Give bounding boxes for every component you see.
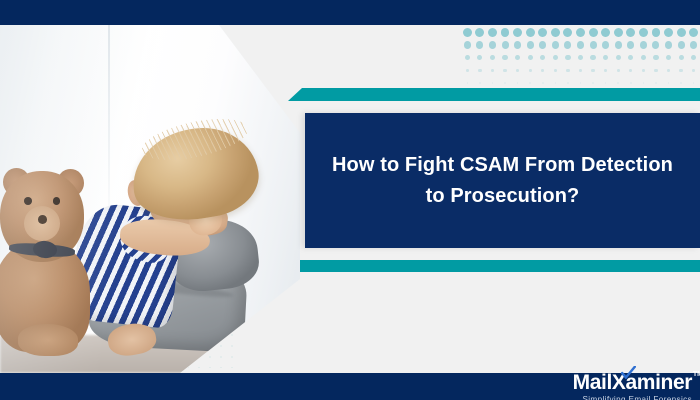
dot [539,41,546,48]
dot [578,55,583,60]
dot [479,82,480,84]
dot [209,367,211,369]
dot [553,55,558,60]
dot [692,69,695,72]
dot [653,55,658,60]
headline-card: How to Fight CSAM From Detection to Pros… [305,113,700,248]
logo-tagline: Simplifying Email Forensics [573,396,692,400]
dot [565,55,570,60]
dot [516,69,519,72]
mailxaminer-logo[interactable]: MailXaminerTM Simplifying Email Forensic… [573,372,692,400]
dot [513,28,522,37]
dot [504,82,505,84]
dot-row [461,51,700,64]
dot [502,55,507,60]
teddy-bear-leg [18,324,78,355]
dot [515,55,520,60]
dot-row [461,64,700,77]
dot [527,41,534,48]
dot [605,82,606,84]
dot [668,82,669,84]
dot [514,41,521,48]
dot [667,69,670,72]
dot [198,367,200,369]
dot [639,28,648,37]
top-navy-bar [0,0,700,25]
dot [592,82,593,84]
dot [652,41,659,48]
dot [467,82,468,84]
dot [538,28,547,37]
child-teddy-bear-photo [0,25,300,373]
dot [679,69,682,72]
dot [617,82,618,84]
dot [602,41,609,48]
dot [542,82,543,84]
dot [577,41,584,48]
dot-row [461,39,700,52]
dot [615,41,622,48]
dot [552,41,559,48]
dot [555,82,556,84]
dot [541,69,544,72]
dot [579,69,582,72]
dot [564,41,571,48]
logo-wordmark: MailXaminerTM [573,372,692,393]
dot [603,55,608,60]
dot [231,345,233,347]
dot [654,69,657,72]
dot [691,55,696,60]
dot [679,55,684,60]
dot [528,55,533,60]
logo-text-mail: Mail [573,371,612,394]
dot [652,28,661,37]
dot [476,41,483,48]
dot [501,28,510,37]
teal-accent-bar-bottom [282,260,700,272]
dot [478,69,481,72]
dot [627,41,634,48]
teal-accent-bar-top [288,88,700,101]
dot [601,28,610,37]
page-title: How to Fight CSAM From Detection to Pros… [305,150,700,212]
dot [490,55,495,60]
dot [465,55,470,60]
dot [503,69,506,72]
dot [563,28,572,37]
dot [591,69,594,72]
teddy-bear-nose [38,215,48,224]
dot-row [461,77,700,90]
dot [517,82,518,84]
dot [220,345,222,347]
dot [220,356,222,358]
dot [551,28,560,37]
dot [641,55,646,60]
dot [475,28,484,37]
dot [540,55,545,60]
dot [643,82,644,84]
dot [628,55,633,60]
dot [590,55,595,60]
dot [690,41,697,48]
dot [677,28,686,37]
dot [477,55,482,60]
dot [664,28,673,37]
dot [665,41,672,48]
dot [678,41,685,48]
dot [640,41,647,48]
dot [680,82,681,84]
dot [529,82,530,84]
dot [231,356,233,358]
dot [689,28,698,37]
dot [489,41,496,48]
dot [492,82,493,84]
photo-scene [0,25,300,373]
dot [529,69,532,72]
dot [466,69,469,72]
dot [655,82,656,84]
dot [188,367,190,369]
dot [693,82,694,84]
dot [626,28,635,37]
promo-banner: How to Fight CSAM From Detection to Pros… [0,0,700,400]
dot-row [461,26,700,39]
dot [231,334,233,336]
dot [502,41,509,48]
dot [614,28,623,37]
dot [589,28,598,37]
dot [630,82,631,84]
teddy-bear-eye-left [24,197,32,205]
logo-trademark: TM [693,371,700,378]
dot [464,41,471,48]
dot [642,69,645,72]
dot [616,55,621,60]
dot [463,28,472,37]
dot [554,69,557,72]
check-icon [621,366,636,379]
dot [580,82,581,84]
dot [604,69,607,72]
dot [566,69,569,72]
dot [209,356,211,358]
dot [220,367,222,369]
dot [590,41,597,48]
dot-pattern-top-right [461,26,700,88]
dot [488,28,497,37]
dot [231,367,233,369]
teddy-bear-eye-right [53,197,61,205]
dot [526,28,535,37]
dot [576,28,585,37]
dot [567,82,568,84]
dot [666,55,671,60]
dot [629,69,632,72]
dot [491,69,494,72]
dot [617,69,620,72]
